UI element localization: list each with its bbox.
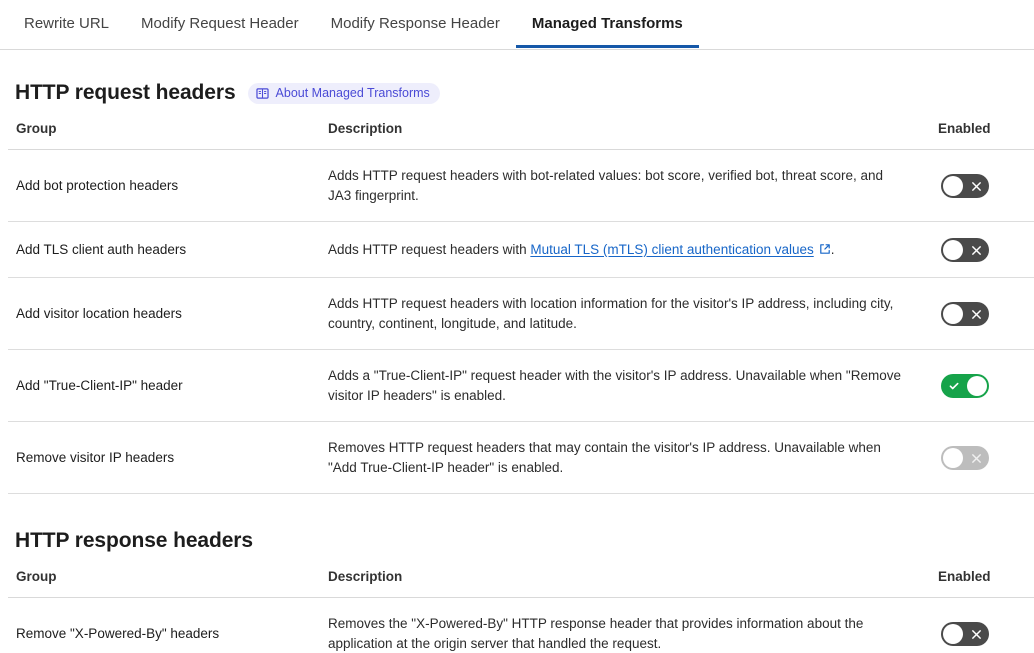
column-header-enabled: Enabled [930,568,1034,598]
external-link-icon[interactable] [819,241,831,261]
row-group-label: Add "True-Client-IP" header [8,350,320,422]
row-description: Adds HTTP request headers with bot-relat… [320,150,930,222]
close-icon [963,446,989,470]
description-suffix: . [831,242,835,257]
column-header-description: Description [320,120,930,150]
row-group-label: Add TLS client auth headers [8,222,320,278]
row-description: Removes HTTP request headers that may co… [320,422,930,494]
close-icon [963,174,989,198]
section-http-response-headers: HTTP response headers Group Description … [8,528,1026,653]
row-group-label: Remove visitor IP headers [8,422,320,494]
toggle-knob [943,624,963,644]
managed-transforms-request-table: Group Description Enabled Add bot protec… [8,120,1034,494]
row-enabled-cell [930,278,1034,350]
table-row: Remove visitor IP headers Removes HTTP r… [8,422,1034,494]
toggle-remove-visitor-ip-headers [941,446,989,470]
tab-bar: Rewrite URL Modify Request Header Modify… [0,0,1034,50]
tab-managed-transforms[interactable]: Managed Transforms [516,0,699,48]
section-title-response: HTTP response headers [15,528,253,554]
row-description: Adds a "True-Client-IP" request header w… [320,350,930,422]
toggle-remove-x-powered-by-headers[interactable] [941,622,989,646]
mtls-doc-link[interactable]: Mutual TLS (mTLS) client authentication … [530,242,813,257]
toggle-add-bot-protection-headers[interactable] [941,174,989,198]
page-title: HTTP request headers [15,80,236,106]
managed-transforms-response-table: Group Description Enabled Remove "X-Powe… [8,568,1034,653]
toggle-knob [943,304,963,324]
close-icon [963,238,989,262]
toggle-add-true-client-ip-header[interactable] [941,374,989,398]
tab-modify-request-header[interactable]: Modify Request Header [125,0,315,48]
row-group-label: Remove "X-Powered-By" headers [8,598,320,653]
badge-label: About Managed Transforms [276,86,430,101]
close-icon [963,302,989,326]
table-row: Add visitor location headers Adds HTTP r… [8,278,1034,350]
row-description: Adds HTTP request headers with Mutual TL… [320,222,930,278]
table-row: Add TLS client auth headers Adds HTTP re… [8,222,1034,278]
toggle-knob [943,448,963,468]
section-header: HTTP response headers [8,528,1026,554]
tab-rewrite-url[interactable]: Rewrite URL [8,0,125,48]
row-enabled-cell [930,150,1034,222]
page-content: HTTP request headers About Managed Trans… [0,80,1034,653]
table-row: Remove "X-Powered-By" headers Removes th… [8,598,1034,653]
row-enabled-cell [930,222,1034,278]
column-header-enabled: Enabled [930,120,1034,150]
row-group-label: Add bot protection headers [8,150,320,222]
toggle-knob [967,376,987,396]
row-description: Removes the "X-Powered-By" HTTP response… [320,598,930,653]
table-header-row: Group Description Enabled [8,120,1034,150]
row-enabled-cell [930,350,1034,422]
column-header-description: Description [320,568,930,598]
table-header-row: Group Description Enabled [8,568,1034,598]
column-header-group: Group [8,568,320,598]
column-header-group: Group [8,120,320,150]
toggle-knob [943,240,963,260]
tab-modify-response-header[interactable]: Modify Response Header [315,0,516,48]
table-row: Add "True-Client-IP" header Adds a "True… [8,350,1034,422]
row-group-label: Add visitor location headers [8,278,320,350]
section-header: HTTP request headers About Managed Trans… [8,80,1026,106]
close-icon [963,622,989,646]
book-icon [256,87,269,100]
row-enabled-cell [930,598,1034,653]
about-managed-transforms-badge[interactable]: About Managed Transforms [248,83,440,104]
row-description: Adds HTTP request headers with location … [320,278,930,350]
toggle-add-visitor-location-headers[interactable] [941,302,989,326]
toggle-add-tls-client-auth-headers[interactable] [941,238,989,262]
check-icon [941,374,967,398]
row-enabled-cell [930,422,1034,494]
section-http-request-headers: HTTP request headers About Managed Trans… [8,80,1026,494]
description-prefix: Adds HTTP request headers with [328,242,530,257]
table-row: Add bot protection headers Adds HTTP req… [8,150,1034,222]
toggle-knob [943,176,963,196]
